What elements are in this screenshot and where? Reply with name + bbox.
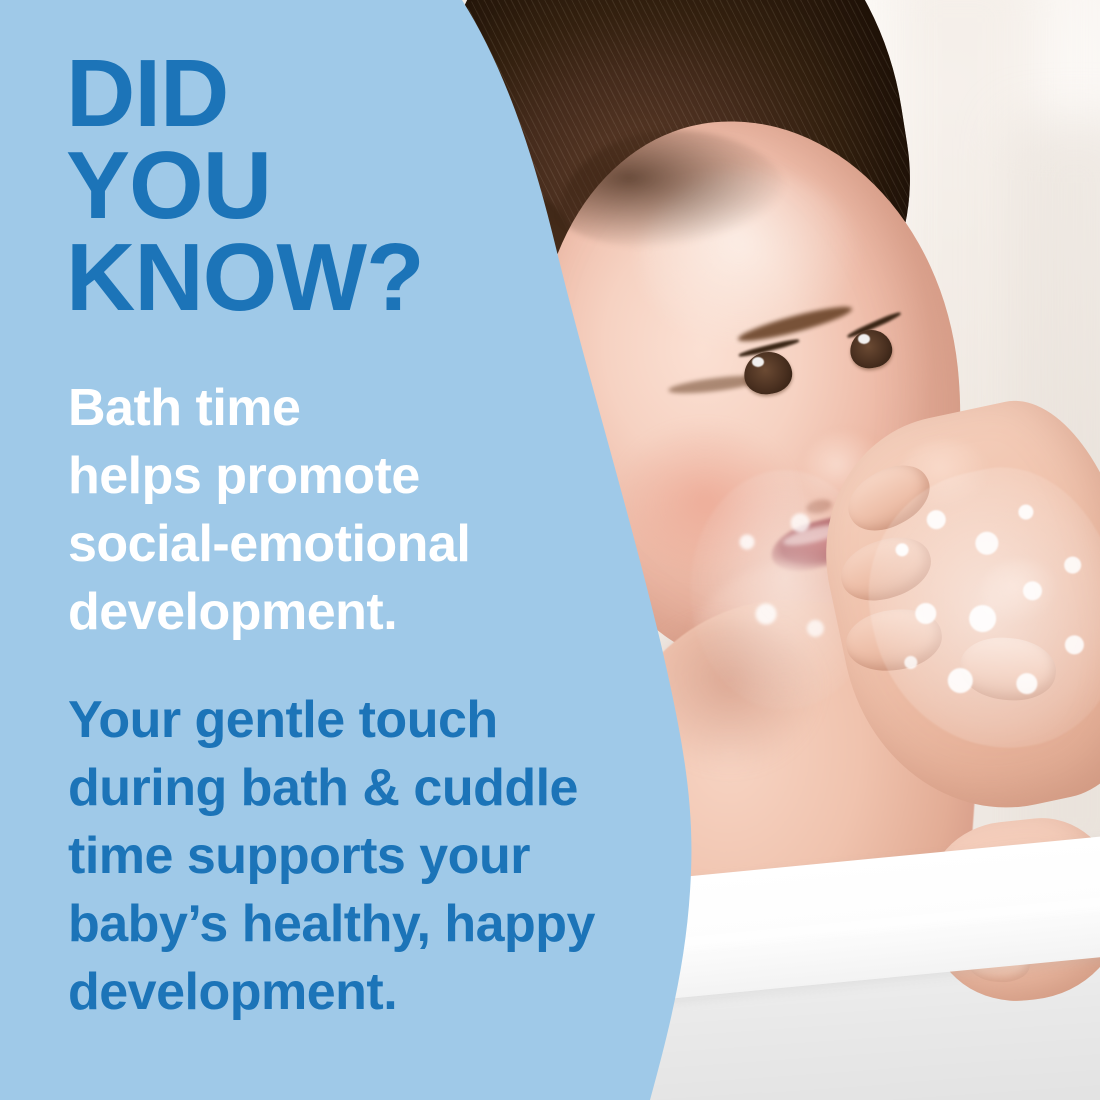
lede-line-1: Bath time: [68, 374, 588, 442]
infographic-canvas: DID YOU KNOW? Bath time helps promote so…: [0, 0, 1100, 1100]
headline-line-1: DID: [66, 48, 496, 140]
lede-line-2: helps promote: [68, 442, 588, 510]
baby-eye-glint: [752, 357, 764, 367]
body-line-4: baby’s healthy, happy: [68, 890, 668, 958]
body-line-3: time supports your: [68, 822, 668, 890]
headline-line-3: KNOW?: [66, 232, 496, 324]
body-line-2: during bath & cuddle: [68, 754, 668, 822]
baby-eye-glint: [858, 334, 870, 344]
body-paragraph: Your gentle touch during bath & cuddle t…: [68, 686, 668, 1026]
lede-paragraph: Bath time helps promote social-emotional…: [68, 374, 588, 646]
lede-line-4: development.: [68, 578, 588, 646]
headline-line-2: YOU: [66, 140, 496, 232]
page-title: DID YOU KNOW?: [66, 48, 496, 324]
lede-line-3: social-emotional: [68, 510, 588, 578]
body-line-1: Your gentle touch: [68, 686, 668, 754]
body-line-5: development.: [68, 958, 668, 1026]
